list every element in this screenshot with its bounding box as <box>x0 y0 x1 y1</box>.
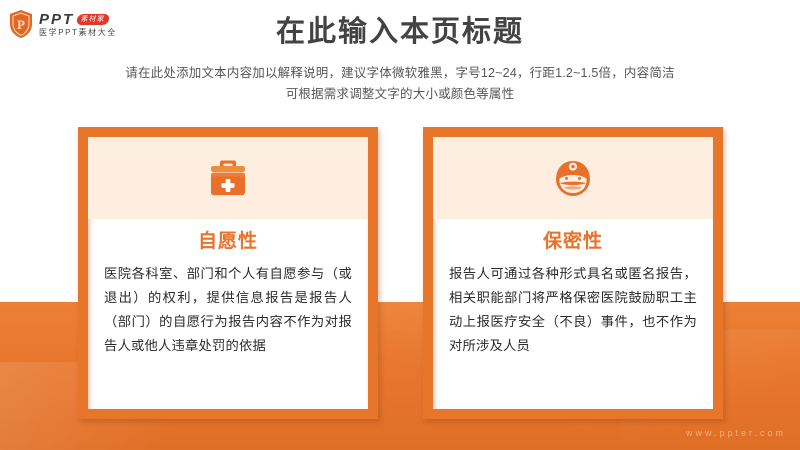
page-subtitle-line-1: 请在此处添加文本内容加以解释说明，建议字体微软雅黑，字号12~24，行距1.2~… <box>0 63 800 84</box>
card-icon-band <box>88 137 368 219</box>
card-body-text: 医院各科室、部门和个人有自愿参与（或退出）的权利，提供信息报告是报告人（部门）的… <box>104 262 352 358</box>
page-subtitle: 请在此处添加文本内容加以解释说明，建议字体微软雅黑，字号12~24，行距1.2~… <box>0 63 800 105</box>
card-title: 自愿性 <box>88 231 368 253</box>
page-subtitle-line-2: 可根据需求调整文字的大小或颜色等属性 <box>0 84 800 105</box>
slide-canvas: P PPT 素材家 医学PPT素材大全 在此输入本页标题 请在此处添加文本内容加… <box>0 0 800 450</box>
doctor-icon <box>550 157 596 199</box>
card-icon-band <box>433 137 713 219</box>
medical-kit-icon <box>205 157 251 199</box>
card-title: 保密性 <box>433 231 713 253</box>
card-body-text: 报告人可通过各种形式具名或匿名报告，相关职能部门将严格保密医院鼓励职工主动上报医… <box>449 262 697 358</box>
footer-watermark: www.ppter.com <box>686 428 786 438</box>
card-inner: 保密性 报告人可通过各种形式具名或匿名报告，相关职能部门将严格保密医院鼓励职工主… <box>433 137 713 409</box>
page-title: 在此输入本页标题 <box>0 15 800 49</box>
card-voluntariness[interactable]: 自愿性 医院各科室、部门和个人有自愿参与（或退出）的权利，提供信息报告是报告人（… <box>78 127 378 419</box>
card-confidentiality[interactable]: 保密性 报告人可通过各种形式具名或匿名报告，相关职能部门将严格保密医院鼓励职工主… <box>423 127 723 419</box>
card-inner: 自愿性 医院各科室、部门和个人有自愿参与（或退出）的权利，提供信息报告是报告人（… <box>88 137 368 409</box>
